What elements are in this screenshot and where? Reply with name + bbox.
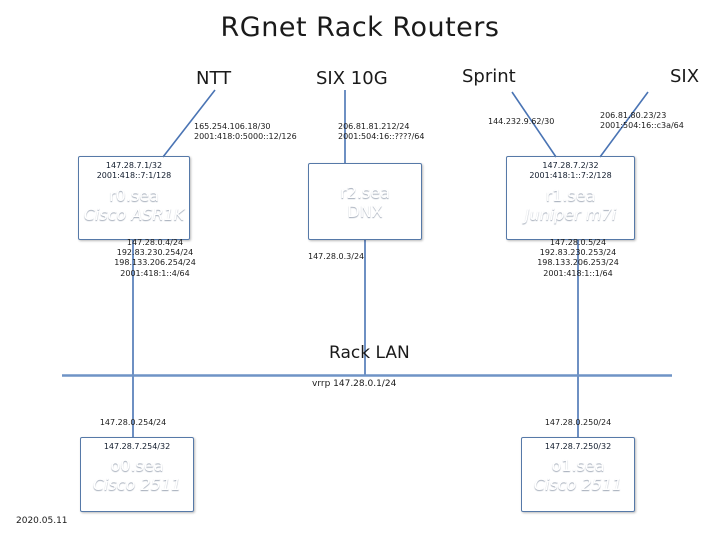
rack-lan-address: vrrp 147.28.0.1/24 [312,379,396,389]
node-lan-addresses-o0: 147.28.0.254/24 [74,418,192,428]
lan-address-line: 147.28.0.254/24 [74,418,192,428]
node-loopback-v4: 147.28.7.2/32 [542,161,598,171]
node-lan-addresses-r0: 147.28.0.4/24 192.83.230.254/24 198.133.… [96,238,214,279]
peer-address-six10g: 206.81.81.212/24 2001:504:16::????/64 [338,122,424,142]
peer-address-line: 206.81.80.23/23 [600,111,684,121]
rack-lan-title: Rack LAN [329,343,410,363]
node-model: Cisco 2511 [93,475,181,494]
node-model: Cisco ASR1K [84,205,185,224]
peer-address-sprint: 144.232.9.62/30 [488,117,554,127]
peer-label-six: SIX [670,66,699,87]
peer-address-six: 206.81.80.23/23 2001:504:16::c3a/64 [600,111,684,131]
peer-address-line: 2001:418:0:5000::12/126 [194,132,297,142]
diagram-canvas: RGnet Rack Routers NTT SIX 10G Sprint SI… [0,0,720,540]
node-hostname: r2.sea [340,183,390,202]
node-hostname: o0.sea [110,456,163,475]
peer-address-line: 2001:504:16::c3a/64 [600,121,684,131]
node-loopback-v6: 2001:418:1::7:2/128 [529,171,611,181]
node-loopback-v6: 2001:418::7:1/128 [97,171,172,181]
node-model: Juniper m7i [525,205,616,224]
node-lan-addresses-r1: 147.28.0.5/24 192.83.230.253/24 198.133.… [519,238,637,279]
node-r0[interactable]: 147.28.7.1/32 2001:418::7:1/128 r0.sea C… [78,156,190,240]
peer-address-line: 144.232.9.62/30 [488,117,554,127]
node-lan-addresses-o1: 147.28.0.250/24 [519,418,637,428]
lan-address-line: 2001:418:1::1/64 [519,269,637,279]
lan-address-line: 198.133.206.254/24 [96,258,214,268]
node-loopback-v4: 147.28.7.250/32 [545,442,611,452]
node-hostname: r1.sea [546,186,596,205]
lan-address-line: 147.28.0.4/24 [96,238,214,248]
lan-address-line: 147.28.0.5/24 [519,238,637,248]
node-lan-addresses-r2: 147.28.0.3/24 [308,252,364,262]
node-o0[interactable]: 147.28.7.254/32 o0.sea Cisco 2511 [80,437,194,512]
peer-address-line: 2001:504:16::????/64 [338,132,424,142]
node-r2[interactable]: r2.sea DNX [308,163,422,240]
node-loopback-v4: 147.28.7.254/32 [104,442,170,452]
peer-address-ntt: 165.254.106.18/30 2001:418:0:5000::12/12… [194,122,297,142]
footer-date: 2020.05.11 [16,516,68,526]
peer-label-sprint: Sprint [462,66,516,87]
page-title: RGnet Rack Routers [0,12,720,43]
peer-address-line: 206.81.81.212/24 [338,122,424,132]
node-loopback-v4: 147.28.7.1/32 [106,161,162,171]
peer-label-ntt: NTT [196,68,231,89]
node-hostname: r0.sea [109,186,159,205]
node-o1[interactable]: 147.28.7.250/32 o1.sea Cisco 2511 [521,437,635,512]
lan-address-line: 147.28.0.250/24 [519,418,637,428]
node-model: Cisco 2511 [534,475,622,494]
peer-label-six10g: SIX 10G [316,68,388,89]
node-hostname: o1.sea [551,456,604,475]
lan-address-line: 198.133.206.253/24 [519,258,637,268]
lan-address-line: 2001:418:1::4/64 [96,269,214,279]
node-model: DNX [347,202,382,221]
lan-address-line: 192.83.230.254/24 [96,248,214,258]
lan-address-line: 192.83.230.253/24 [519,248,637,258]
lan-address-line: 147.28.0.3/24 [308,252,364,262]
node-r1[interactable]: 147.28.7.2/32 2001:418:1::7:2/128 r1.sea… [506,156,635,240]
peer-address-line: 165.254.106.18/30 [194,122,297,132]
